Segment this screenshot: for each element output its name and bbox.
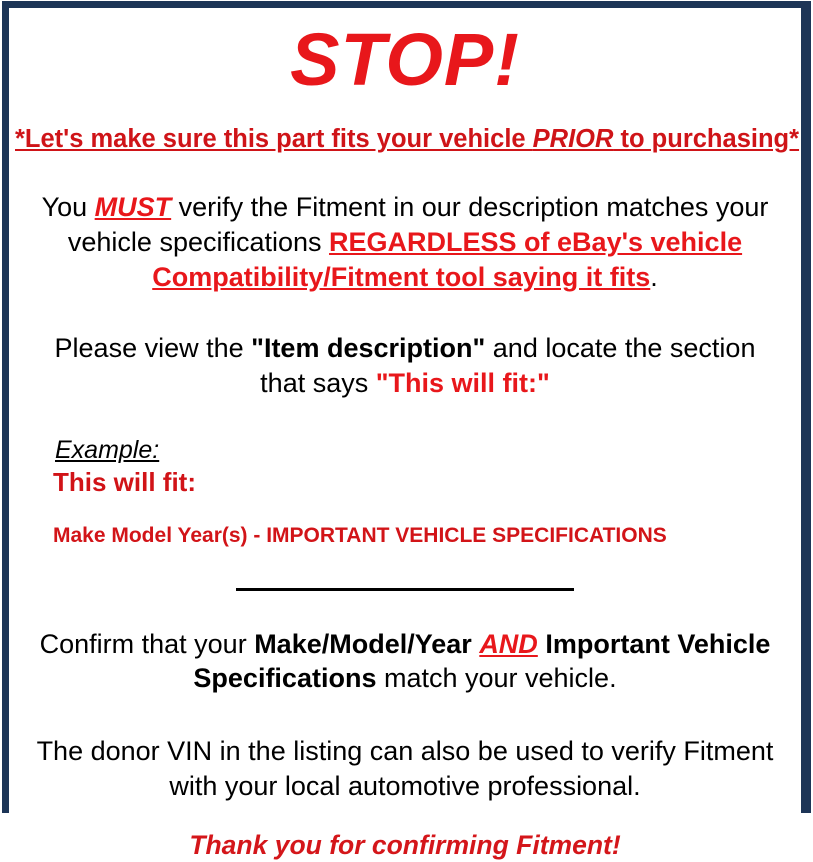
tagline-suffix: to purchasing* [613, 125, 799, 153]
item-paragraph-seg1: Please view the [55, 333, 252, 363]
item-description-quote: "Item description" [251, 333, 485, 363]
example-block: Example: This will fit: Make Model Year(… [9, 436, 801, 548]
section-divider [9, 581, 801, 599]
divider-line [236, 588, 574, 591]
must-paragraph-period: . [650, 262, 658, 292]
donor-vin-paragraph: The donor VIN in the listing can also be… [9, 734, 801, 804]
must-keyword: MUST [95, 192, 172, 222]
example-label-row: Example: [55, 436, 801, 465]
tagline-prefix: *Let's make sure this part fits your veh… [15, 125, 533, 153]
confirm-paragraph: Confirm that your Make/Model/Year AND Im… [9, 627, 801, 697]
must-verify-paragraph: You MUST verify the Fitment in our descr… [9, 190, 801, 294]
thank-you-line: Thank you for confirming Fitment! [9, 830, 801, 862]
tagline-banner: *Let's make sure this part fits your veh… [15, 125, 795, 154]
tagline-emphasis-prior: PRIOR [533, 125, 614, 153]
fitment-notice-card: STOP! *Let's make sure this part fits yo… [2, 1, 811, 813]
item-description-paragraph: Please view the "Item description" and l… [9, 331, 801, 401]
and-keyword: AND [479, 629, 538, 659]
must-paragraph-seg1: You [42, 192, 95, 222]
confirm-paragraph-seg2: match your vehicle. [376, 663, 616, 693]
stop-heading: STOP! [9, 23, 801, 97]
this-will-fit-quote: "This will fit:" [376, 368, 550, 398]
make-model-year-text: Make/Model/Year [254, 629, 472, 659]
confirm-paragraph-seg1: Confirm that your [40, 629, 255, 659]
example-fit-heading: This will fit: [53, 467, 801, 498]
example-spec-line: Make Model Year(s) - IMPORTANT VEHICLE S… [53, 523, 801, 548]
notice-card-inner: STOP! *Let's make sure this part fits yo… [9, 23, 801, 818]
example-label: Example: [55, 436, 159, 465]
